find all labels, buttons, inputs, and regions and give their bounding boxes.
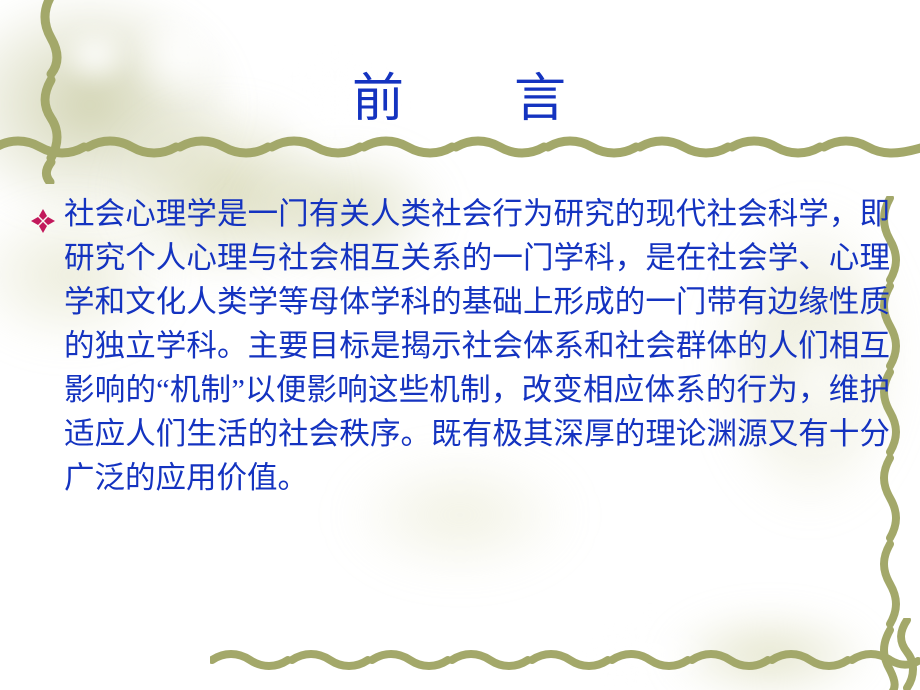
bamboo-stem-horizontal-bottom-icon — [210, 643, 920, 675]
slide-canvas: 前 言 社会心理学是一门有关人类社会行为研究的现代社会科学，即研究个人心理与社会… — [0, 0, 920, 690]
watercolor-highlight — [560, 600, 740, 690]
body-block: 社会心理学是一门有关人类社会行为研究的现代社会科学，即研究个人心理与社会相互关系… — [30, 192, 890, 500]
bamboo-stem-joint-bottom-right-icon — [894, 618, 920, 690]
watercolor-wash — [620, 590, 920, 690]
body-paragraph: 社会心理学是一门有关人类社会行为研究的现代社会科学，即研究个人心理与社会相互关系… — [64, 192, 890, 500]
slide-title: 前 言 — [0, 70, 920, 130]
bamboo-stem-horizontal-top-icon — [0, 128, 920, 162]
diamond-flower-bullet-icon — [30, 192, 64, 234]
